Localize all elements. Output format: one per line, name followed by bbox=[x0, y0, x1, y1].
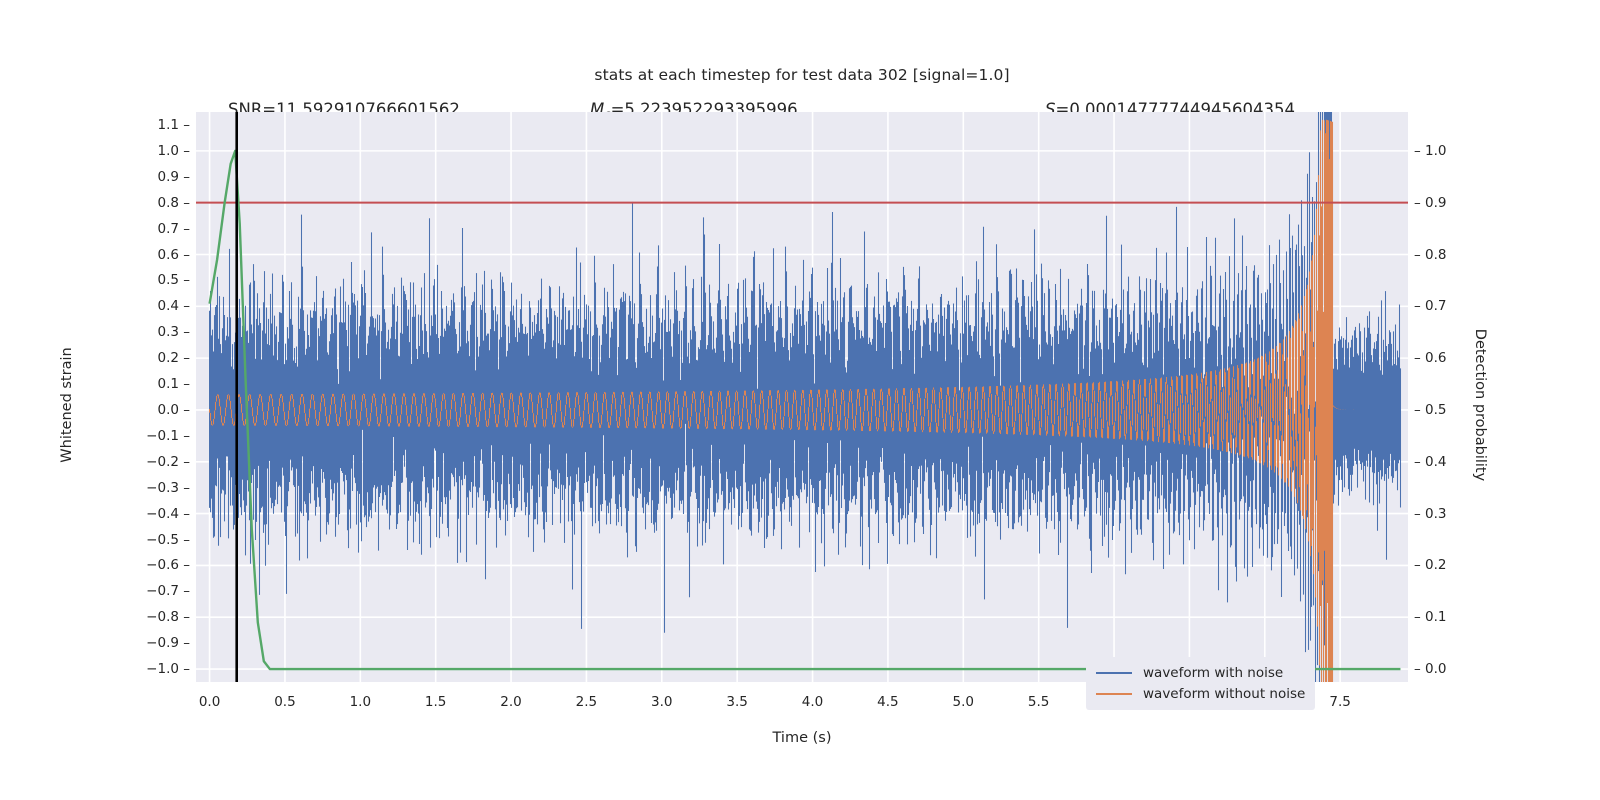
y-axis-right-tick: – 0.4 bbox=[1408, 454, 1528, 470]
y-axis-left-tick: −0.5 – bbox=[0, 532, 196, 548]
legend: waveform with noisewaveform without nois… bbox=[1086, 657, 1315, 710]
y-axis-right-label: Detection probability bbox=[1472, 275, 1488, 535]
y-axis-left-tick: −0.4 – bbox=[0, 506, 196, 522]
x-axis-tick: 2.0 bbox=[500, 694, 521, 710]
y-axis-left-tick: 0.0 – bbox=[0, 402, 196, 418]
x-axis-tick: 1.5 bbox=[425, 694, 446, 710]
y-axis-left-tick: 0.3 – bbox=[0, 324, 196, 340]
y-axis-right-tick: – 0.7 bbox=[1408, 298, 1528, 314]
legend-swatch-icon bbox=[1096, 672, 1132, 674]
legend-label: waveform with noise bbox=[1143, 665, 1283, 681]
y-axis-right-tick: – 0.5 bbox=[1408, 402, 1528, 418]
y-axis-left-tick: −0.8 – bbox=[0, 609, 196, 625]
y-axis-left-tick: 0.8 – bbox=[0, 195, 196, 211]
y-axis-right-tick: – 0.1 bbox=[1408, 609, 1528, 625]
y-axis-left-tick: −0.1 – bbox=[0, 428, 196, 444]
y-axis-left-tick: 1.1 – bbox=[0, 117, 196, 133]
x-axis-tick: 3.5 bbox=[726, 694, 747, 710]
x-axis-tick: 0.0 bbox=[199, 694, 220, 710]
x-axis-tick: 1.0 bbox=[350, 694, 371, 710]
y-axis-right-tick: – 0.9 bbox=[1408, 195, 1528, 211]
plot-svg bbox=[196, 112, 1408, 682]
legend-item[interactable]: waveform with noise bbox=[1096, 662, 1305, 683]
x-axis-tick: 4.5 bbox=[877, 694, 898, 710]
y-axis-right-tick: – 0.2 bbox=[1408, 557, 1528, 573]
x-axis-tick: 0.5 bbox=[274, 694, 295, 710]
plot-area bbox=[196, 112, 1408, 682]
y-axis-left-tick: 0.2 – bbox=[0, 350, 196, 366]
y-axis-left-tick: 0.4 – bbox=[0, 298, 196, 314]
y-axis-left-tick: 0.6 – bbox=[0, 247, 196, 263]
y-axis-left-label: Whitened strain bbox=[59, 275, 75, 535]
x-axis-tick: 2.5 bbox=[576, 694, 597, 710]
y-axis-left-tick: −0.2 – bbox=[0, 454, 196, 470]
y-axis-left-tick: 0.9 – bbox=[0, 169, 196, 185]
y-axis-right-tick: – 1.0 bbox=[1408, 143, 1528, 159]
x-axis-tick: 5.5 bbox=[1028, 694, 1049, 710]
x-axis-tick: 3.0 bbox=[651, 694, 672, 710]
y-axis-right-tick: – 0.0 bbox=[1408, 661, 1528, 677]
y-axis-left-tick: 0.5 – bbox=[0, 272, 196, 288]
page-title: stats at each timestep for test data 302… bbox=[196, 66, 1408, 84]
y-axis-right-tick: – 0.3 bbox=[1408, 506, 1528, 522]
x-axis-tick: 4.0 bbox=[802, 694, 823, 710]
y-axis-left-tick: −0.6 – bbox=[0, 557, 196, 573]
x-axis-label: Time (s) bbox=[196, 730, 1408, 746]
y-axis-left-tick: −1.0 – bbox=[0, 661, 196, 677]
legend-swatch-icon bbox=[1096, 693, 1132, 695]
y-axis-left-tick: 0.7 – bbox=[0, 221, 196, 237]
legend-label: waveform without noise bbox=[1143, 686, 1305, 702]
y-axis-left-tick: −0.7 – bbox=[0, 583, 196, 599]
y-axis-right-tick: – 0.6 bbox=[1408, 350, 1528, 366]
legend-item[interactable]: waveform without noise bbox=[1096, 683, 1305, 704]
y-axis-right-tick: – 0.8 bbox=[1408, 247, 1528, 263]
y-axis-left-tick: −0.9 – bbox=[0, 635, 196, 651]
y-axis-left-tick: 1.0 – bbox=[0, 143, 196, 159]
y-axis-left-tick: −0.3 – bbox=[0, 480, 196, 496]
y-axis-left-tick: 0.1 – bbox=[0, 376, 196, 392]
x-axis-tick: 5.0 bbox=[953, 694, 974, 710]
x-axis-tick: 7.5 bbox=[1329, 694, 1350, 710]
figure-canvas: stats at each timestep for test data 302… bbox=[0, 0, 1600, 800]
